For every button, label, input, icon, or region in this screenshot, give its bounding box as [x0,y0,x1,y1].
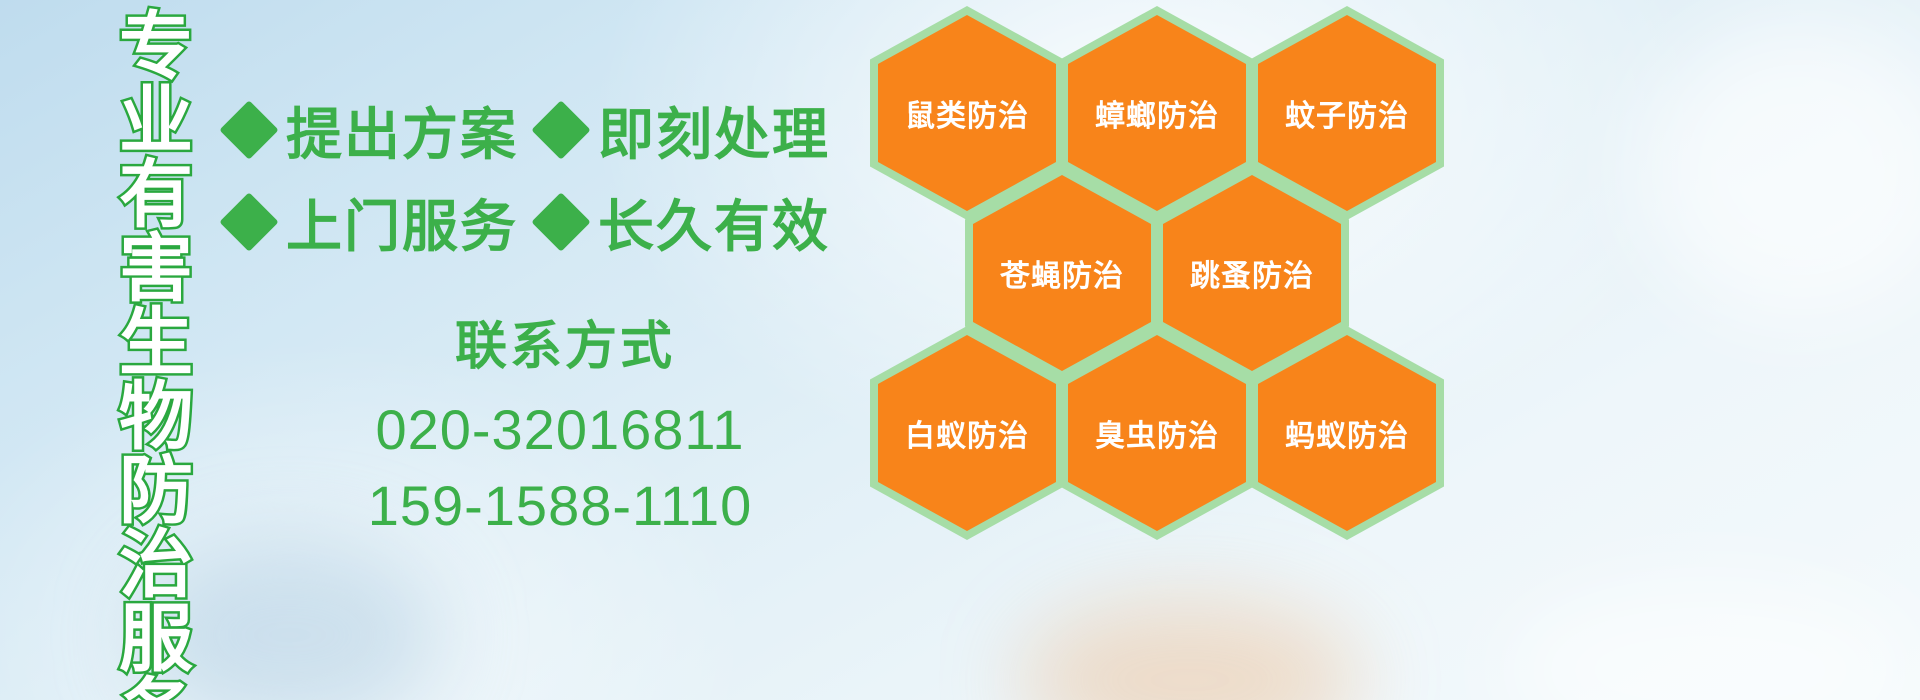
feature-label: 长久有效 [598,182,830,263]
diamond-icon [219,192,278,251]
vertical-title-char: 服 [119,602,193,676]
hexagon-fill: 跳蚤防治 [1163,175,1341,371]
service-label: 蚊子防治 [1285,91,1409,135]
phone-number-landline[interactable]: 020-32016811 [280,392,840,468]
vertical-title-char: 业 [119,84,193,158]
feature-label: 即刻处理 [598,90,830,171]
vertical-title-char: 治 [119,528,193,602]
hexagon-fill: 鼠类防治 [878,15,1056,211]
vertical-title-char: 有 [119,158,193,232]
diamond-icon [531,100,590,159]
feature-row: 提出方案 即刻处理 [228,84,868,176]
vertical-title-char: 害 [119,232,193,306]
background-blob [1640,20,1920,320]
feature-item: 上门服务 [228,182,518,263]
feature-label: 上门服务 [286,182,518,263]
feature-item: 即刻处理 [540,90,830,171]
vertical-title-char: 物 [119,380,193,454]
vertical-title: 专 业 有 害 生 物 防 治 服 务 [108,10,204,690]
feature-list: 提出方案 即刻处理 上门服务 长久有效 [228,84,868,268]
feature-label: 提出方案 [286,90,518,171]
service-label: 苍蝇防治 [1000,251,1124,295]
service-hexagon-grid: 鼠类防治 蟑螂防治 蚊子防治 苍蝇防治 跳蚤防治 白蚁防治 [856,0,1476,580]
phone-number-mobile[interactable]: 159-1588-1110 [280,468,840,544]
hexagon-fill: 苍蝇防治 [973,175,1151,371]
hexagon-fill: 蚊子防治 [1258,15,1436,211]
pest-control-banner: 专 业 有 害 生 物 防 治 服 务 提出方案 即刻处理 上门服务 [0,0,1920,700]
feature-row: 上门服务 长久有效 [228,176,868,268]
vertical-title-char: 防 [119,454,193,528]
service-label: 蟑螂防治 [1095,91,1219,135]
hexagon-fill: 蟑螂防治 [1068,15,1246,211]
hexagon-fill: 蚂蚁防治 [1258,335,1436,531]
diamond-icon [531,192,590,251]
contact-block: 联系方式 020-32016811 159-1588-1110 [280,316,840,544]
diamond-icon [219,100,278,159]
service-label: 蚂蚁防治 [1285,411,1409,455]
background-blob [1020,600,1360,700]
hexagon-fill: 臭虫防治 [1068,335,1246,531]
vertical-title-char: 务 [119,676,193,700]
vertical-title-char: 生 [119,306,193,380]
service-label: 跳蚤防治 [1190,251,1314,295]
hexagon-fill: 白蚁防治 [878,335,1056,531]
feature-item: 长久有效 [540,182,830,263]
service-label: 鼠类防治 [905,91,1029,135]
background-blob [1500,580,1920,700]
service-label: 白蚁防治 [905,411,1029,455]
service-label: 臭虫防治 [1095,411,1219,455]
contact-title: 联系方式 [280,316,840,378]
vertical-title-char: 专 [119,10,193,84]
feature-item: 提出方案 [228,90,518,171]
